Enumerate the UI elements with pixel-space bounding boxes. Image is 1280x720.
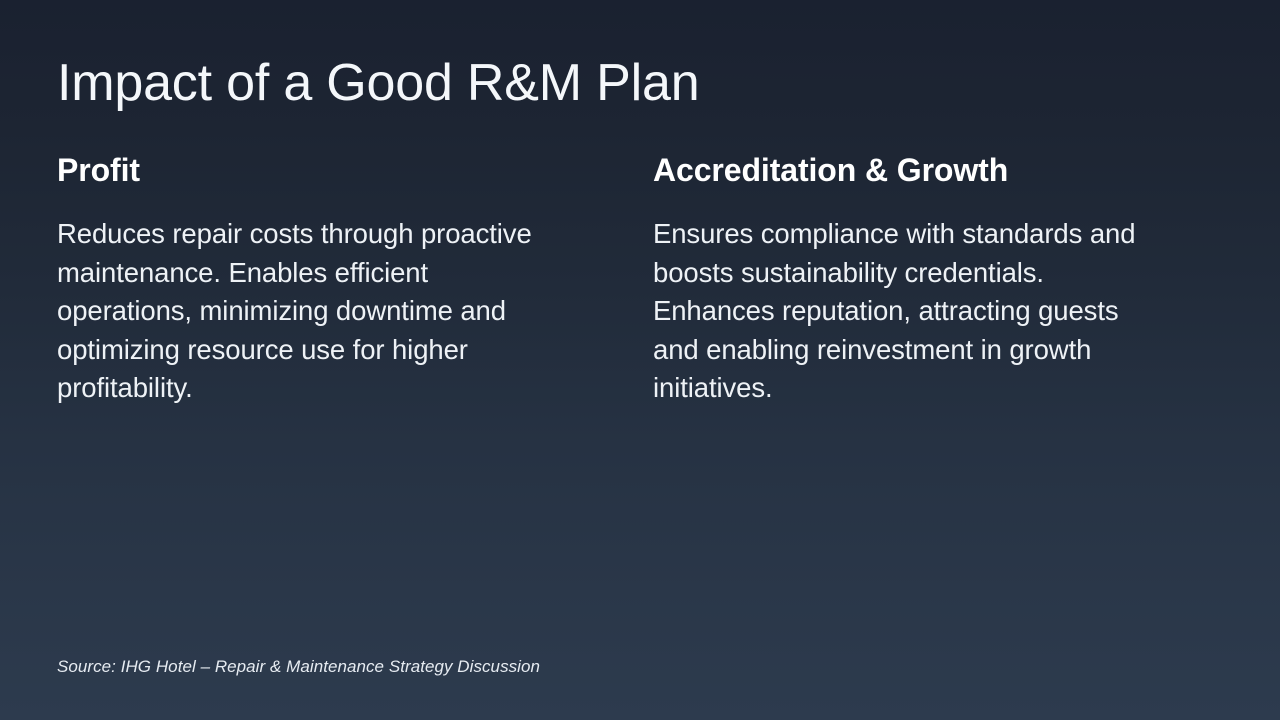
column-profit: Profit Reduces repair costs through proa… xyxy=(57,151,653,407)
content-columns: Profit Reduces repair costs through proa… xyxy=(57,151,1167,407)
source-note: Source: IHG Hotel – Repair & Maintenance… xyxy=(57,656,540,678)
page-title: Impact of a Good R&M Plan xyxy=(57,54,1157,112)
column-body-accreditation-growth: Ensures compliance with standards and bo… xyxy=(653,215,1167,407)
column-body-profit: Reduces repair costs through proactive m… xyxy=(57,215,563,407)
column-heading-profit: Profit xyxy=(57,151,563,189)
column-accreditation-growth: Accreditation & Growth Ensures complianc… xyxy=(653,151,1167,407)
column-heading-accreditation-growth: Accreditation & Growth xyxy=(653,151,1167,189)
presentation-slide: Impact of a Good R&M Plan Profit Reduces… xyxy=(0,0,1280,720)
